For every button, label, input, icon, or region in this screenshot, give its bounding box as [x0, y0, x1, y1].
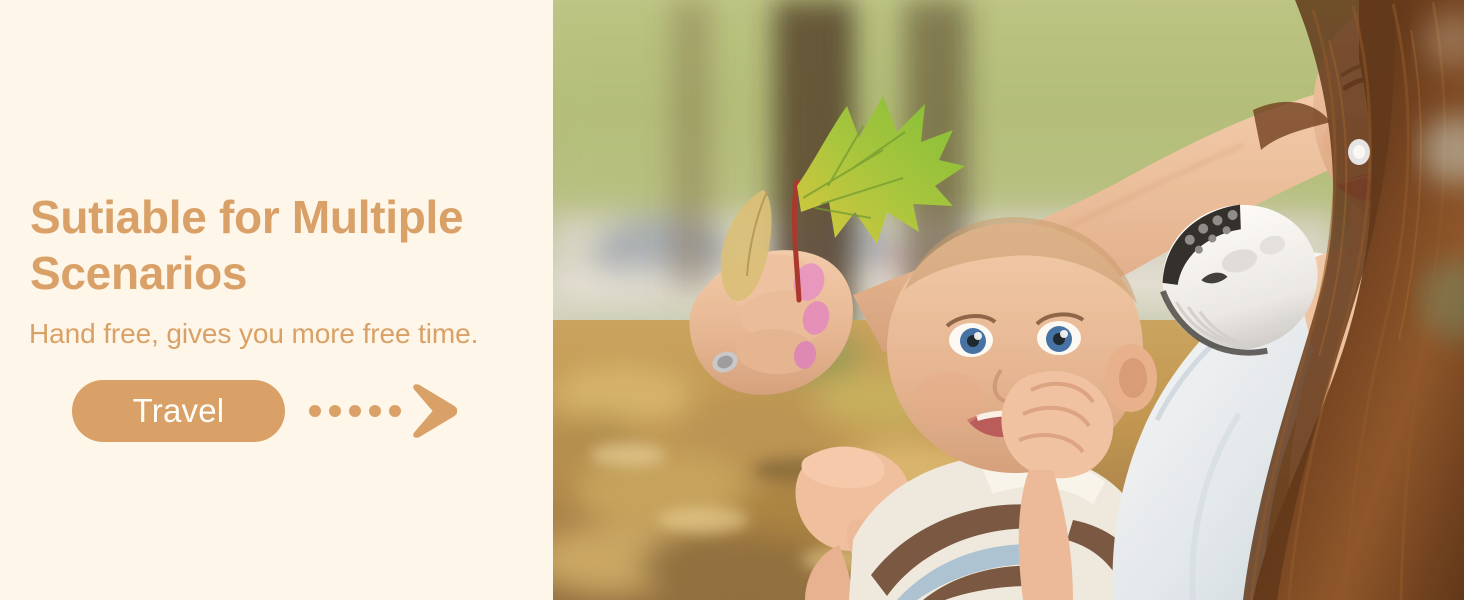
dot-3 — [349, 405, 361, 417]
dots-arrow-decoration — [309, 380, 457, 442]
chevron-right-icon — [411, 384, 457, 438]
dot-1 — [309, 405, 321, 417]
dot-5 — [389, 405, 401, 417]
travel-button[interactable]: Travel — [72, 380, 285, 442]
cta-row: Travel — [72, 380, 457, 442]
subtitle: Hand free, gives you more free time. — [29, 317, 478, 351]
promo-banner: Sutiable for Multiple Scenarios Hand fre… — [0, 0, 1464, 600]
dot-4 — [369, 405, 381, 417]
lifestyle-photo — [553, 0, 1464, 600]
photo-illustration — [553, 0, 1464, 600]
text-panel: Sutiable for Multiple Scenarios Hand fre… — [0, 0, 553, 600]
page-title: Sutiable for Multiple Scenarios — [30, 189, 550, 301]
dot-2 — [329, 405, 341, 417]
